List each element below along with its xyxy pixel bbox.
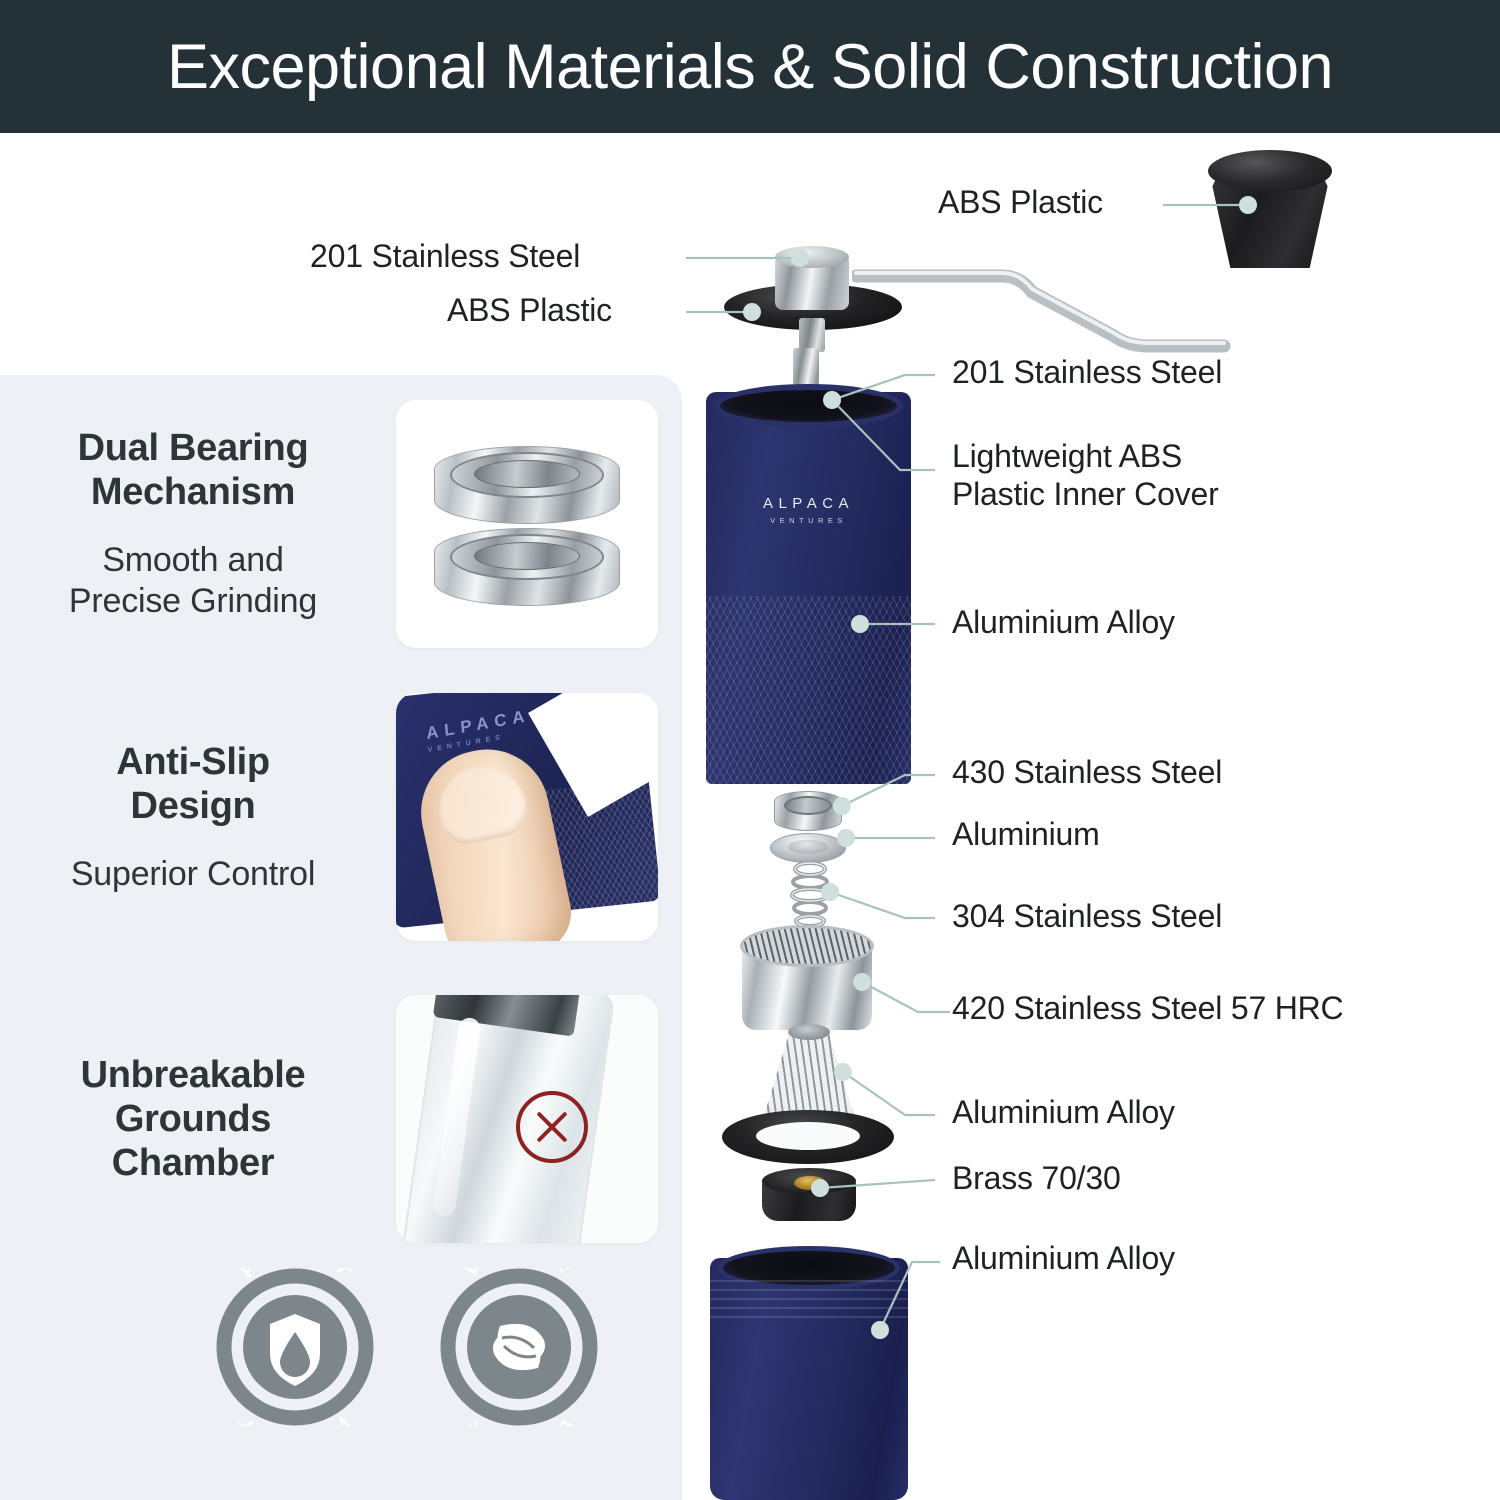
bpa-free-badge: BPA FREE BPA FREE xyxy=(440,1268,598,1426)
bearing-upper xyxy=(434,446,620,524)
grinder-body-opening xyxy=(714,384,903,428)
title-line-1: Unbreakable xyxy=(81,1054,306,1096)
callout-bearing: 430 Stainless Steel xyxy=(952,754,1222,792)
sub-line-1: Smooth and xyxy=(102,541,283,579)
title-line-2: Grounds xyxy=(115,1098,271,1140)
callout-shaft: 201 Stainless Steel xyxy=(952,354,1222,392)
callout-burr-ring: 420 Stainless Steel 57 HRC xyxy=(952,990,1343,1028)
sub-line-2: Precise Grinding xyxy=(69,582,317,620)
callout-inner-cover-line1: Lightweight ABS xyxy=(952,438,1182,474)
grounds-chamber-threads xyxy=(710,1276,908,1318)
callout-cap-disc: ABS Plastic xyxy=(447,292,612,330)
feature-anti-slip: Anti-Slip Design Superior Control ALPACA… xyxy=(0,693,682,941)
title-line-3: Chamber xyxy=(112,1142,275,1184)
crank-knob-top xyxy=(1208,150,1332,192)
certification-badges: ANTI-RUST ANTI-RUST BPA FREE BPA FREE xyxy=(216,1268,598,1426)
feature-dual-bearing-title: Dual Bearing Mechanism xyxy=(0,426,386,514)
title-line-1: Dual Bearing xyxy=(78,427,309,469)
feature-unbreakable-chamber: Unbreakable Grounds Chamber xyxy=(0,995,682,1243)
callout-inner-cover: Lightweight ABS Plastic Inner Cover xyxy=(952,438,1312,514)
crank-arm xyxy=(852,262,1272,354)
callout-crank-hub: 201 Stainless Steel xyxy=(310,238,580,276)
crank-stem xyxy=(799,318,825,352)
grinder-body-knurling xyxy=(706,596,911,784)
part-bearing xyxy=(774,791,842,831)
brand-subtitle: VENTURES xyxy=(706,516,911,525)
callout-washer: Aluminium xyxy=(952,816,1100,854)
callout-cone-burr: Aluminium Alloy xyxy=(952,1094,1175,1132)
title-line-1: Anti-Slip xyxy=(116,741,270,783)
part-black-mounting-ring xyxy=(722,1110,894,1164)
bearing-lower xyxy=(434,528,620,606)
feature-anti-slip-title: Anti-Slip Design xyxy=(0,740,386,828)
x-mark-icon xyxy=(516,1091,588,1163)
title-line-2: Design xyxy=(131,785,256,827)
callout-body: Aluminium Alloy xyxy=(952,604,1175,642)
feature-dual-bearing: Dual Bearing Mechanism Smooth and Precis… xyxy=(0,400,682,648)
glass-jar-photo xyxy=(396,995,658,1243)
callout-chamber: Aluminium Alloy xyxy=(952,1240,1175,1278)
glass-jar-image xyxy=(396,995,658,1243)
callout-knob: ABS Plastic xyxy=(938,184,1103,222)
part-conical-burr-top xyxy=(788,1024,830,1040)
anti-rust-badge-svg: ANTI-RUST ANTI-RUST xyxy=(216,1268,374,1426)
callout-spring: 304 Stainless Steel xyxy=(952,898,1222,936)
anti-slip-grip-photo: ALPACA VENTURES xyxy=(396,693,658,941)
grip-image: ALPACA VENTURES xyxy=(396,693,658,941)
part-conical-burr xyxy=(762,1030,856,1122)
feature-unbreakable-chamber-text: Unbreakable Grounds Chamber xyxy=(0,1053,396,1185)
product-brand-logo: ALPACA VENTURES xyxy=(706,495,911,525)
bpa-free-badge-svg: BPA FREE BPA FREE xyxy=(440,1268,598,1426)
part-washer xyxy=(770,833,846,863)
feature-anti-slip-text: Anti-Slip Design Superior Control xyxy=(0,740,396,895)
part-brass-insert xyxy=(794,1176,826,1190)
anti-rust-badge: ANTI-RUST ANTI-RUST xyxy=(216,1268,374,1426)
dual-bearing-photo xyxy=(396,400,658,648)
feature-dual-bearing-subtitle: Smooth and Precise Grinding xyxy=(0,540,386,622)
callout-inner-cover-line2: Plastic Inner Cover xyxy=(952,476,1219,512)
feature-dual-bearing-text: Dual Bearing Mechanism Smooth and Precis… xyxy=(0,426,396,622)
title-line-2: Mechanism xyxy=(91,471,295,513)
feature-unbreakable-chamber-title: Unbreakable Grounds Chamber xyxy=(0,1053,386,1185)
feature-anti-slip-subtitle: Superior Control xyxy=(0,854,386,895)
brand-name: ALPACA xyxy=(763,495,854,512)
callout-brass-nut: Brass 70/30 xyxy=(952,1160,1121,1198)
crank-hub-top xyxy=(775,246,849,268)
part-outer-burr-ring xyxy=(742,938,872,1030)
